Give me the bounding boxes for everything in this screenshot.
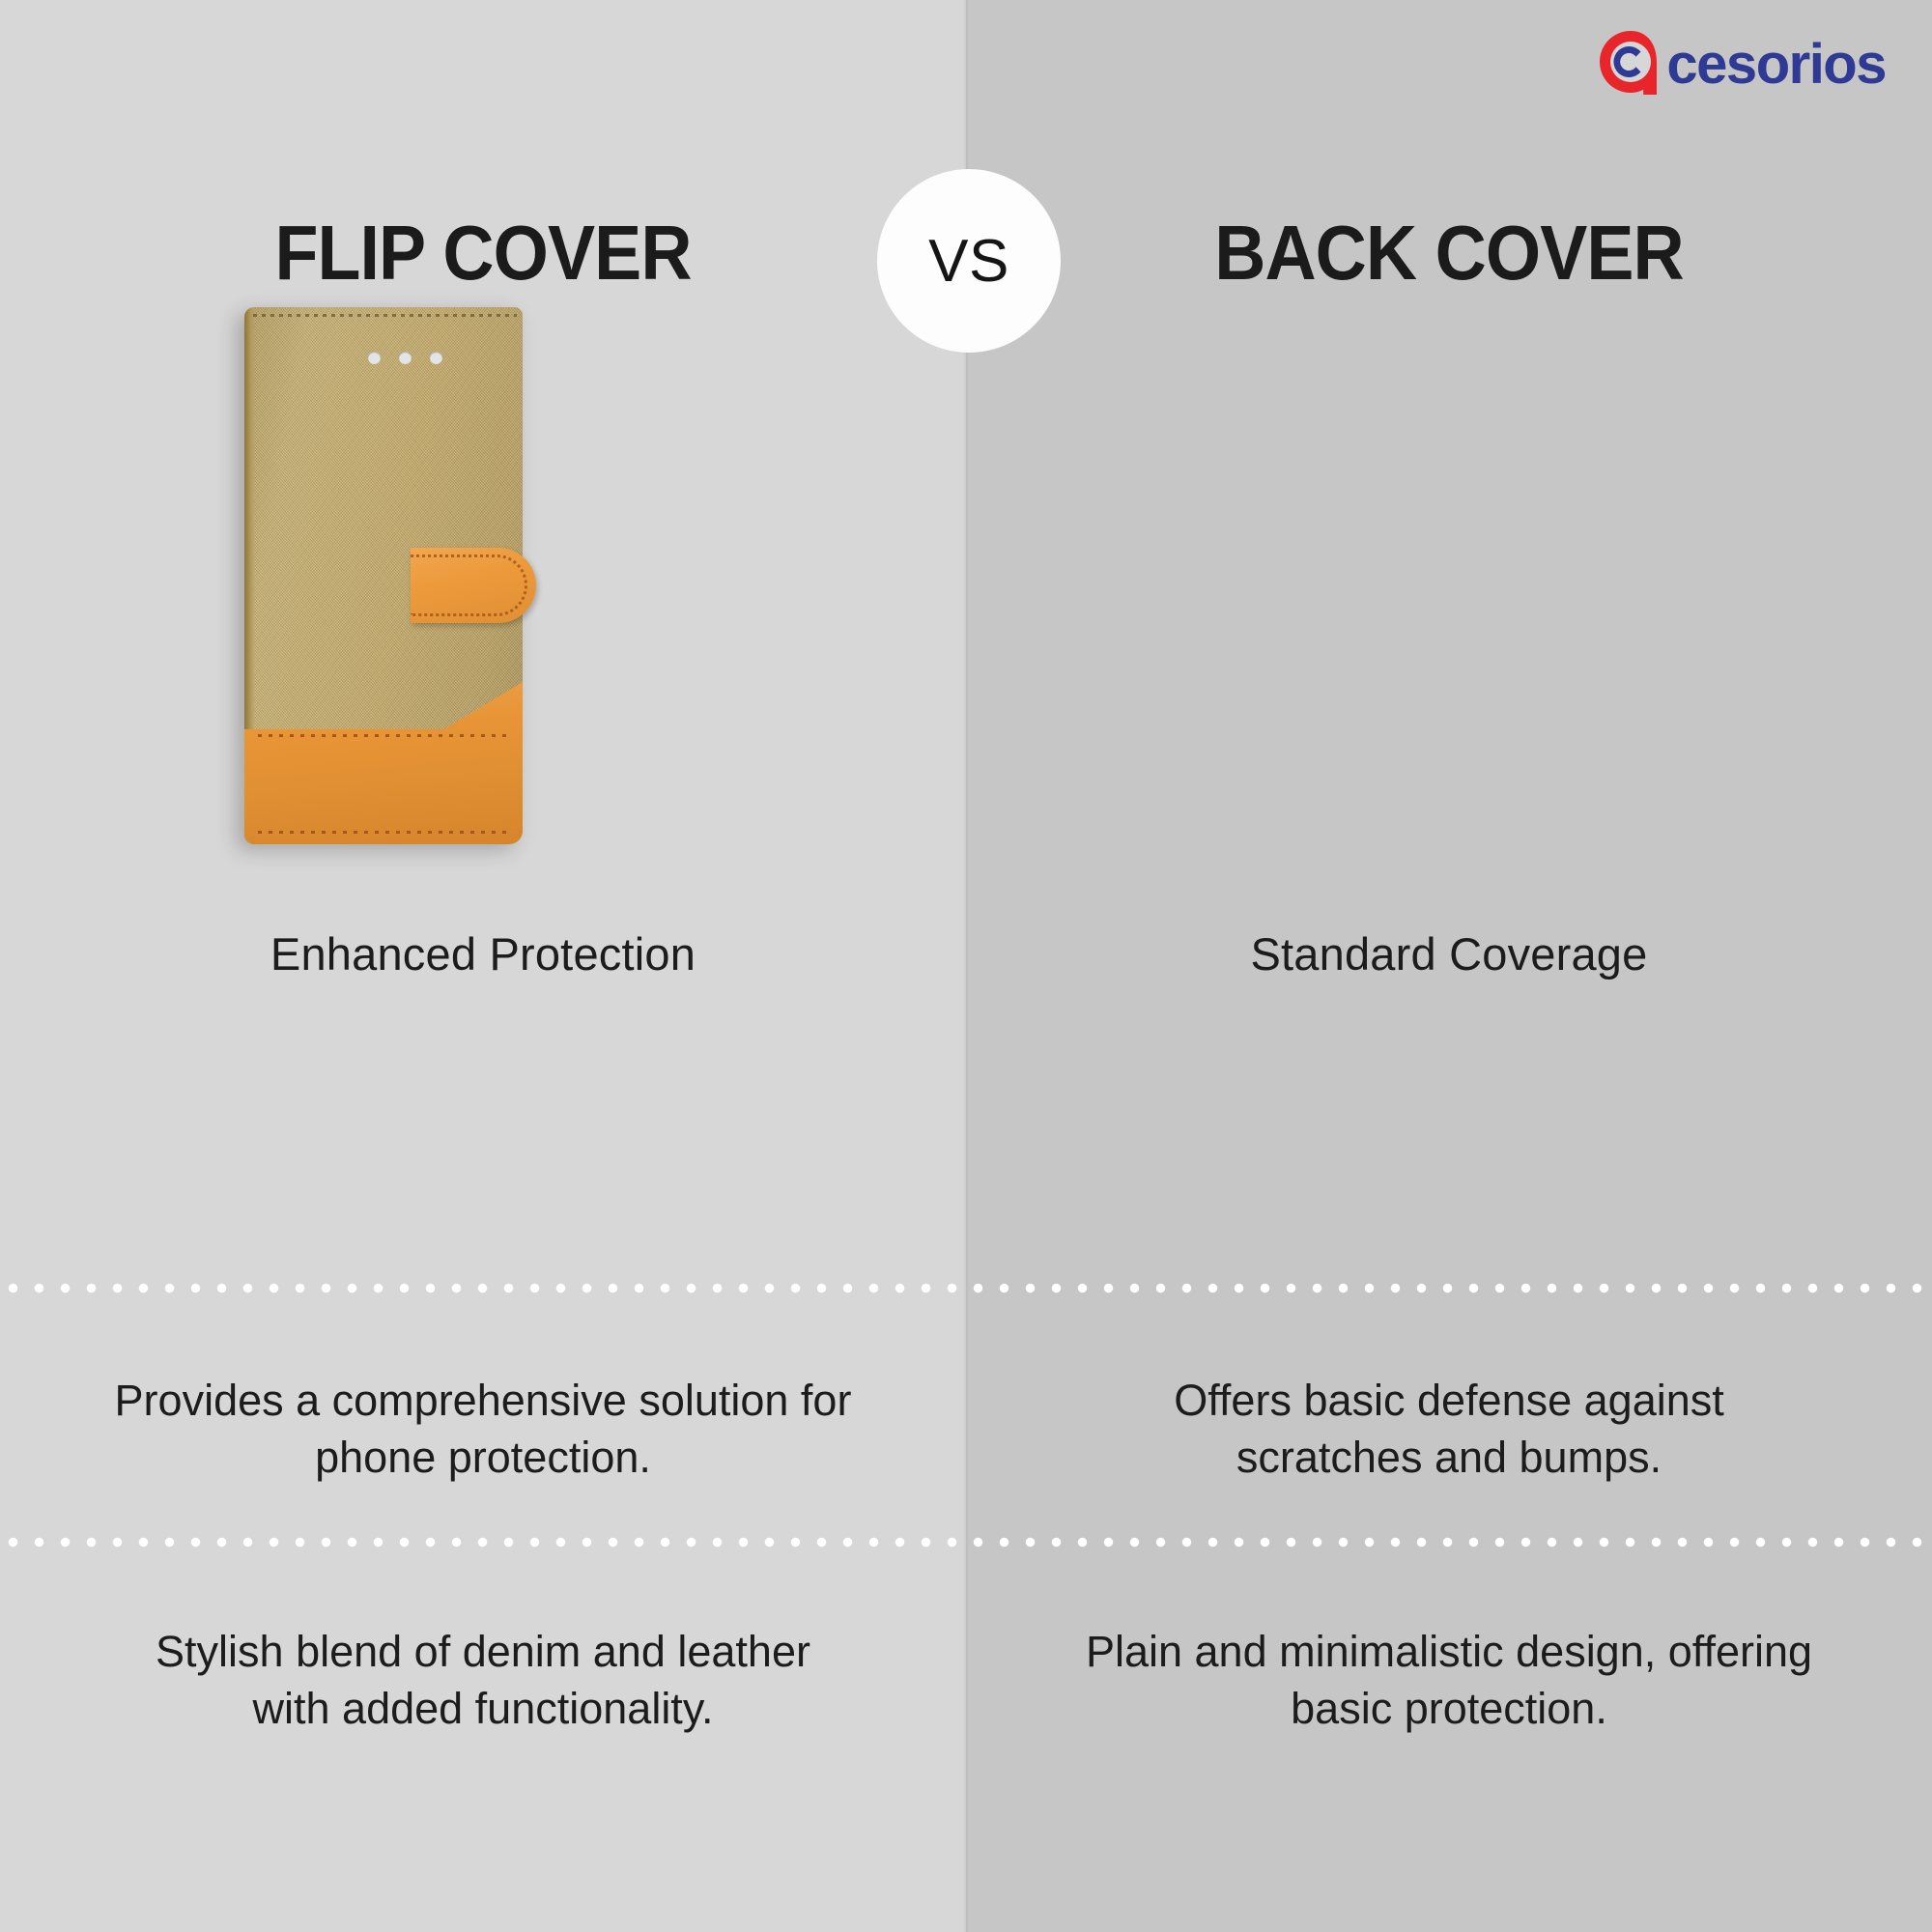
vs-label: VS <box>928 227 1009 296</box>
flip-cover-speaker-holes-icon <box>368 352 442 364</box>
feature-text-flip-2: Stylish blend of denim and leather with … <box>0 1623 966 1738</box>
feature-text-back-1: Offers basic defense against scratches a… <box>966 1372 1932 1487</box>
feature-text-flip-1: Provides a comprehensive solution for ph… <box>0 1372 966 1487</box>
heading-flip-cover: FLIP COVER <box>39 214 927 292</box>
vs-badge: VS <box>877 169 1061 353</box>
feature-text-back-2: Plain and minimalistic design, offering … <box>966 1623 1932 1738</box>
dotted-divider-2 <box>0 1536 1932 1548</box>
column-back-cover: BACK COVER Standard Coverage Offers basi… <box>966 0 1932 1932</box>
flip-cover-magnetic-strap <box>411 548 536 623</box>
dotted-divider-1 <box>0 1282 1932 1294</box>
subtitle-back-cover: Standard Coverage <box>966 927 1932 980</box>
flip-cover-top-stitching <box>253 314 517 317</box>
flip-cover-leather-stitching <box>244 682 523 844</box>
heading-back-cover: BACK COVER <box>1005 214 1893 292</box>
column-flip-cover: FLIP COVER Enhanced Protection Provides … <box>0 0 966 1932</box>
subtitle-flip-cover: Enhanced Protection <box>0 927 966 980</box>
